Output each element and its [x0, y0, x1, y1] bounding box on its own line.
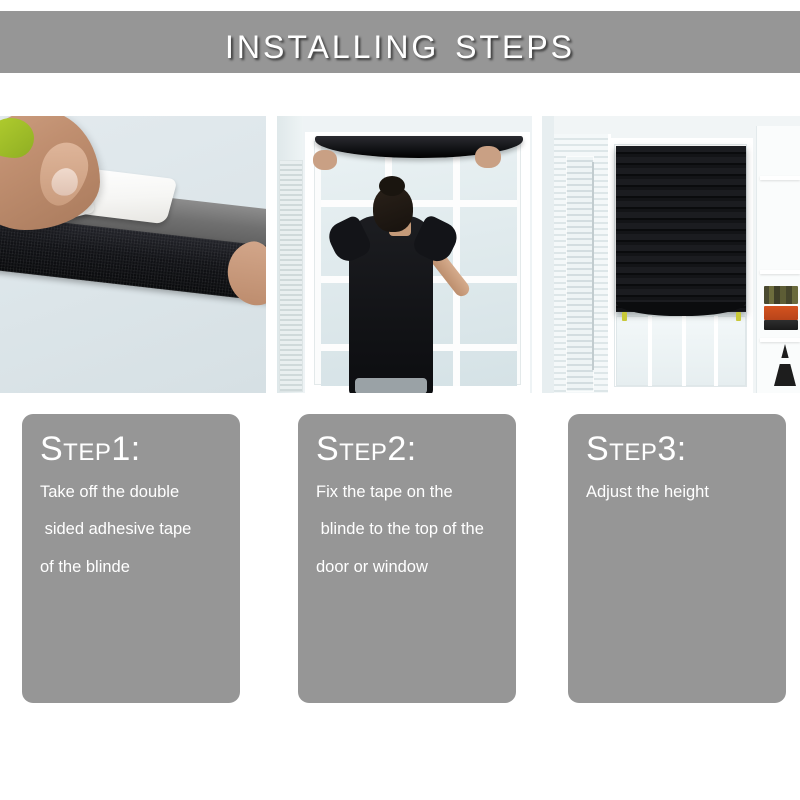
step-card-3-body: Adjust the height — [586, 484, 768, 501]
step-card-3-line: Adjust the height — [586, 484, 768, 501]
step-card-2-line: door or window — [316, 559, 498, 576]
window-mullion-horizontal — [321, 200, 517, 207]
step-card-2-body: Fix the tape on the blinde to the top of… — [316, 484, 498, 576]
orange-book — [764, 306, 798, 320]
step-card-1: Step1: Take off the double sided adhesiv… — [22, 414, 240, 703]
step-card-1-line: sided adhesive tape — [40, 521, 222, 538]
step-card-2-line: Fix the tape on the — [316, 484, 498, 501]
illustration-installed-blind — [542, 116, 800, 393]
window-mullion-vertical — [682, 316, 686, 386]
step-card-1-body: Take off the double sided adhesive tape … — [40, 484, 222, 576]
left-venetian-blind — [279, 160, 303, 392]
step-card-3-heading: Step3: — [586, 432, 768, 468]
photo-panel-peel-tape — [0, 116, 266, 393]
left-hand — [313, 150, 337, 170]
black-pleated-blind — [616, 146, 746, 312]
lower-window-pane — [616, 316, 746, 386]
shelf-board — [760, 270, 800, 274]
photo-panel-fix-blind — [277, 116, 532, 393]
photo-panel-installed-blind — [542, 116, 800, 393]
person-trousers — [355, 378, 427, 393]
step-card-1-line: Take off the double — [40, 484, 222, 501]
black-book — [764, 320, 798, 330]
eiffel-tower-figurine — [774, 344, 796, 386]
eiffel-tower-gap — [778, 358, 792, 364]
shelf-board — [760, 176, 800, 180]
left-wall — [542, 116, 554, 393]
step-card-3: Step3: Adjust the height — [568, 414, 786, 703]
step-card-1-line: of the blinde — [40, 559, 222, 576]
step-card-2: Step2: Fix the tape on the blinde to the… — [298, 414, 516, 703]
header-banner: Installing Steps — [0, 11, 800, 73]
blind-cord — [592, 162, 594, 370]
right-hand — [475, 146, 501, 168]
step-card-2-heading: Step2: — [316, 432, 498, 468]
step-card-1-heading: Step1: — [40, 432, 222, 468]
page-title: Installing Steps — [225, 19, 575, 65]
shelf-board — [760, 338, 800, 342]
step-card-2-line: blinde to the top of the — [316, 521, 498, 538]
blind-clip — [736, 312, 741, 321]
illustration-fix-blind — [277, 116, 532, 393]
books-row — [764, 286, 798, 304]
window-mullion-vertical — [714, 316, 718, 386]
photo-panel-row — [0, 116, 800, 393]
white-venetian-blind-inner — [566, 156, 594, 392]
blind-clip — [622, 312, 627, 321]
window-mullion-vertical — [648, 316, 652, 386]
illustration-peel-tape — [0, 116, 266, 393]
step-card-row: Step1: Take off the double sided adhesiv… — [0, 414, 800, 703]
person-hair-bun — [379, 176, 405, 196]
